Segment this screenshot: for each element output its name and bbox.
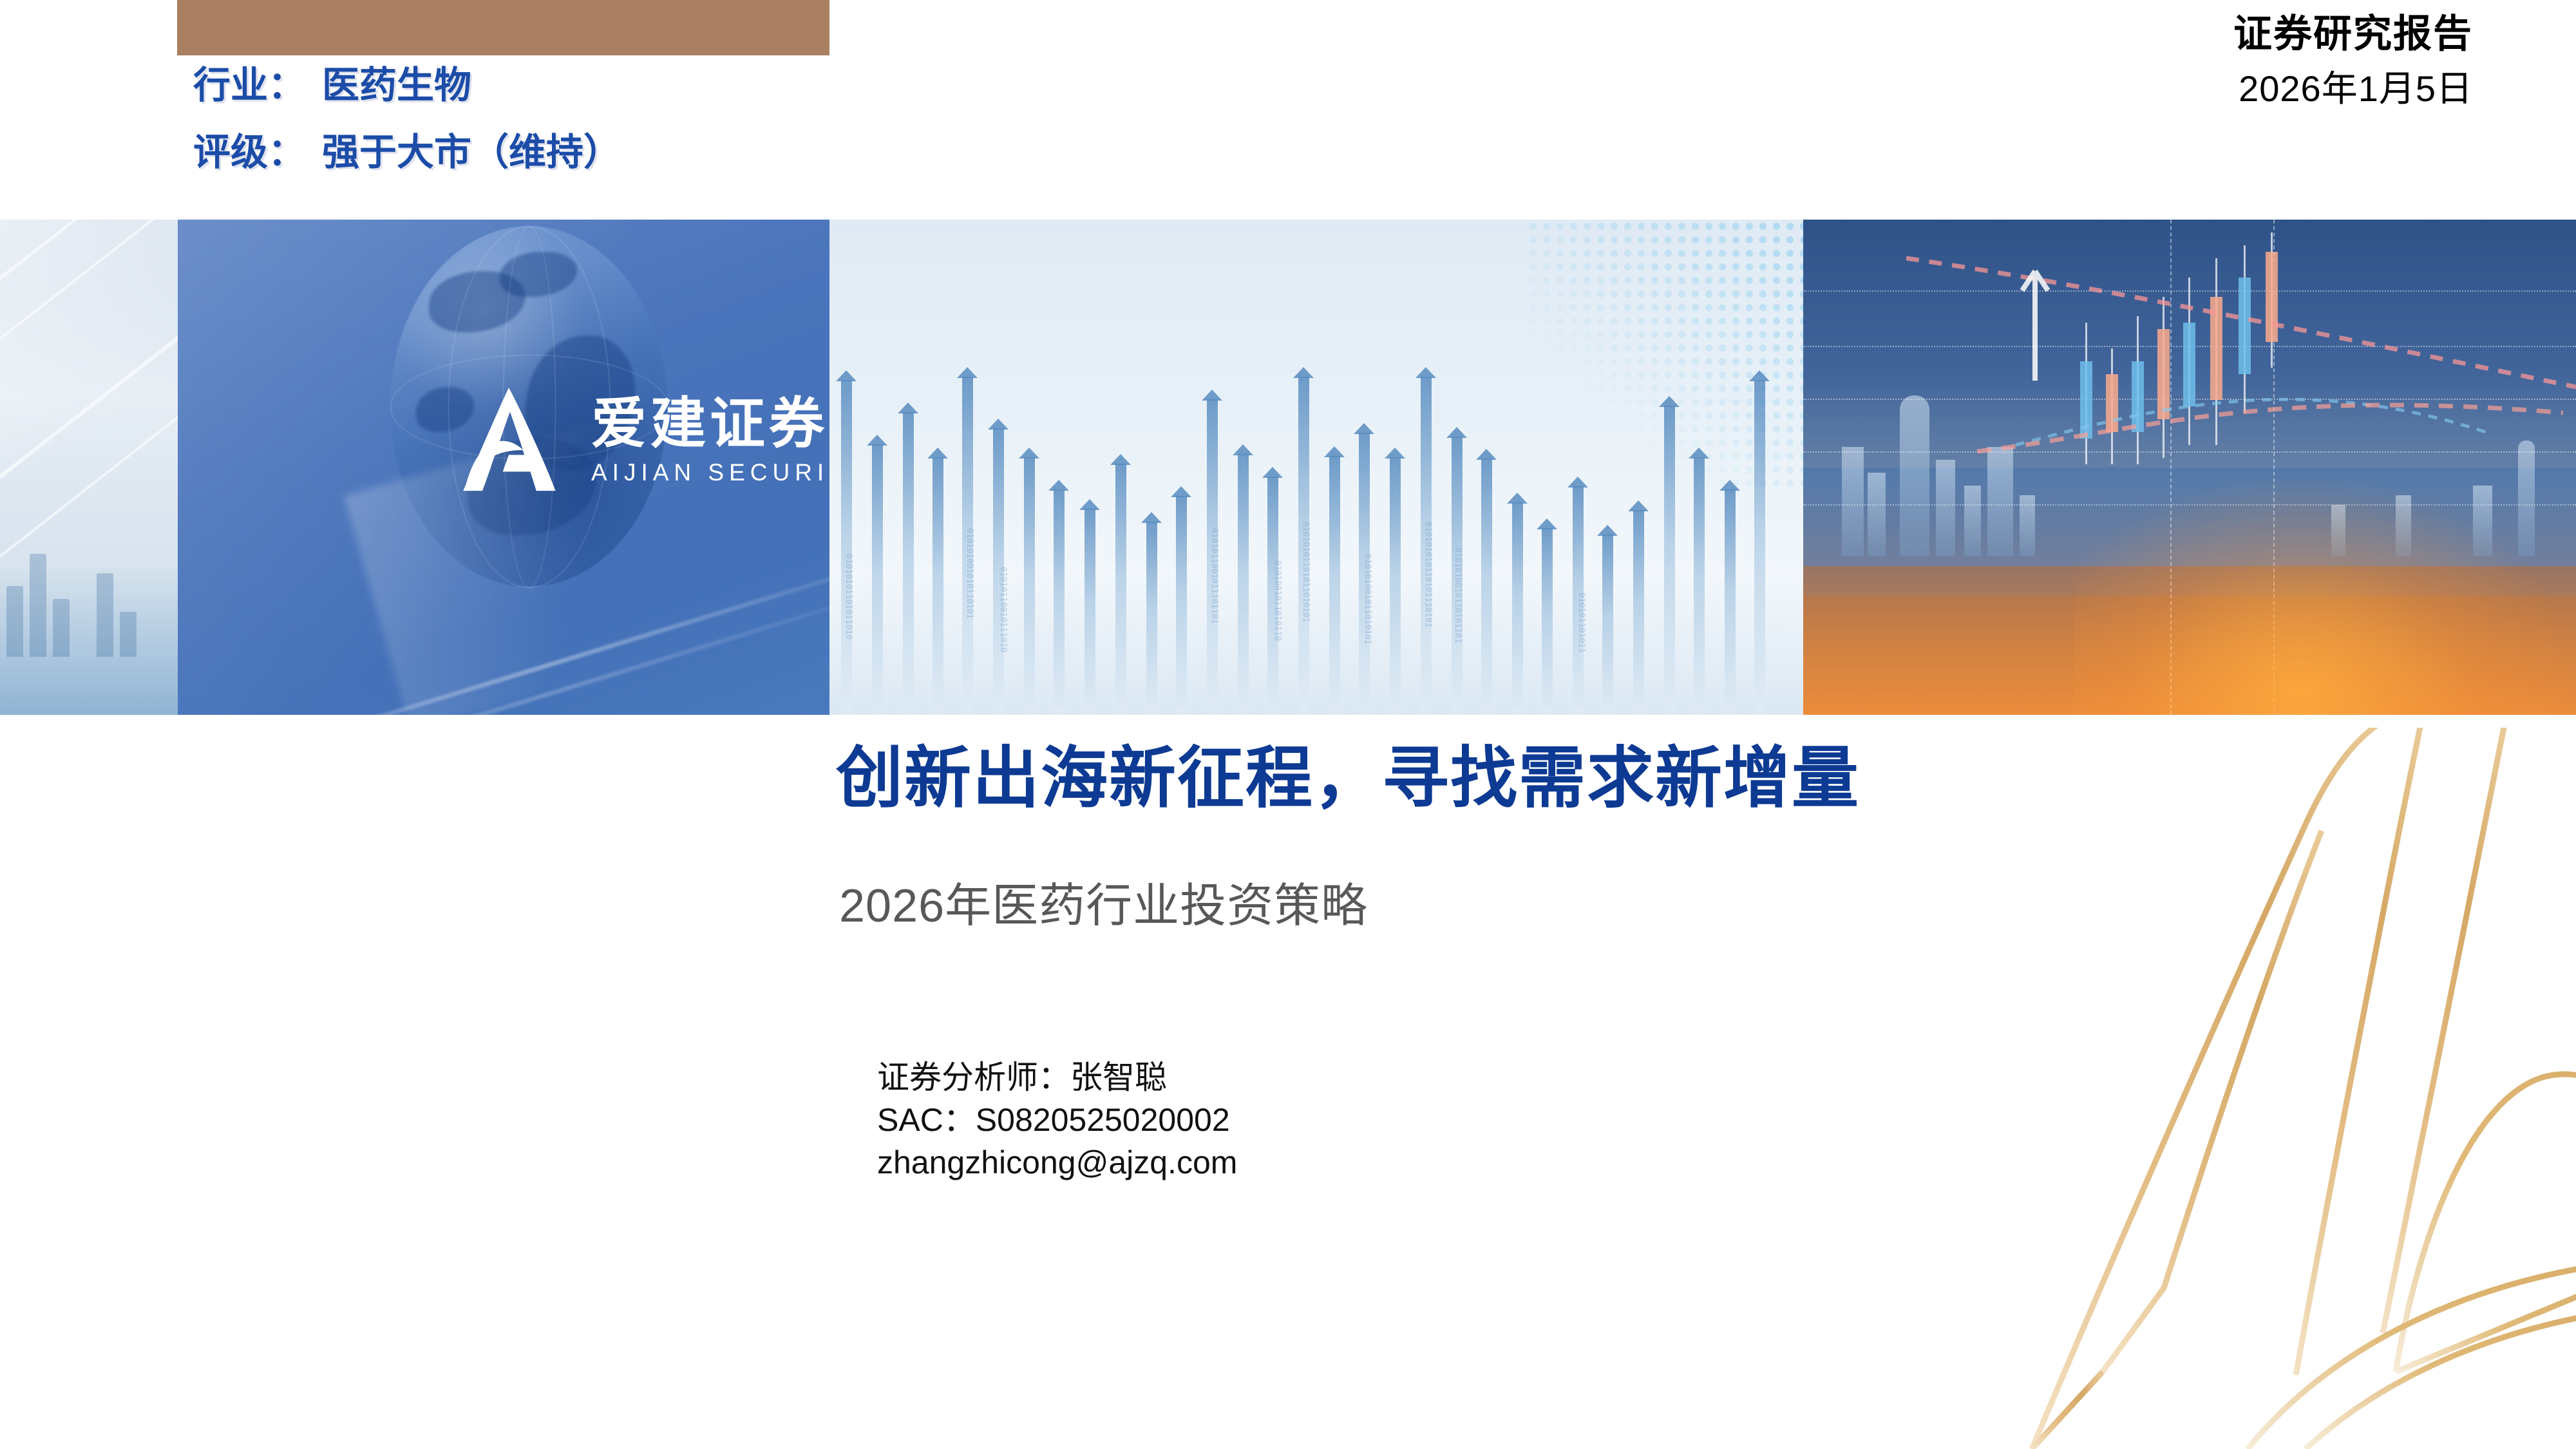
banner-globe-panel: 爱建证券 AIJIAN SECURITIES [178,220,829,715]
page-subtitle: 2026年医药行业投资策略 [839,881,1368,932]
brand-name-cn: 爱建证券 [591,395,829,453]
analyst-name-line: 证券分析师：张智聪 [877,1056,1237,1099]
report-kind-label: 证券研究报告 [2233,12,2473,56]
logo-text-wrap: 爱建证券 AIJIAN SECURITIES [591,395,829,486]
rating-label: 评级： [193,134,322,171]
aijian-a-mark-icon [448,381,569,500]
report-header-right: 证券研究报告 2026年1月5日 [2233,12,2473,111]
industry-row: 行业： 医药生物 [193,67,902,104]
page-title: 创新出海新征程，寻找需求新增量 [836,742,1860,815]
aijian-a-watermark-icon [1971,728,2576,1449]
analyst-sac-line: SAC：S0820525020002 [877,1099,1237,1141]
rating-value: 强于大市（维持） [322,134,621,171]
cover-banner-image: 爱建证券 AIJIAN SECURITIES [0,220,2576,715]
banner-city-candlestick-panel [1803,220,2576,715]
analyst-email-line[interactable]: zhangzhicong@ajzq.com [877,1141,1237,1184]
brand-name-en: AIJIAN SECURITIES [591,459,829,486]
top-accent-bar [177,0,829,55]
banner-arrow-chart-panel: 01010101101011010 010101001010110101 010… [829,220,1803,715]
report-meta-block: 行业： 医药生物 评级： 强于大市（维持） [193,67,902,171]
industry-value: 医药生物 [322,67,471,104]
city-sunset-glow [2074,477,2576,715]
rating-row: 评级： 强于大市（维持） [193,134,902,171]
industry-label: 行业： [193,67,322,104]
aijian-logo-lockup: 爱建证券 AIJIAN SECURITIES [448,381,829,500]
banner-left-paper-panel [0,220,178,715]
report-date-label: 2026年1月5日 [2233,66,2473,111]
analyst-info-block: 证券分析师：张智聪 SAC：S0820525020002 zhangzhicon… [877,1056,1237,1184]
